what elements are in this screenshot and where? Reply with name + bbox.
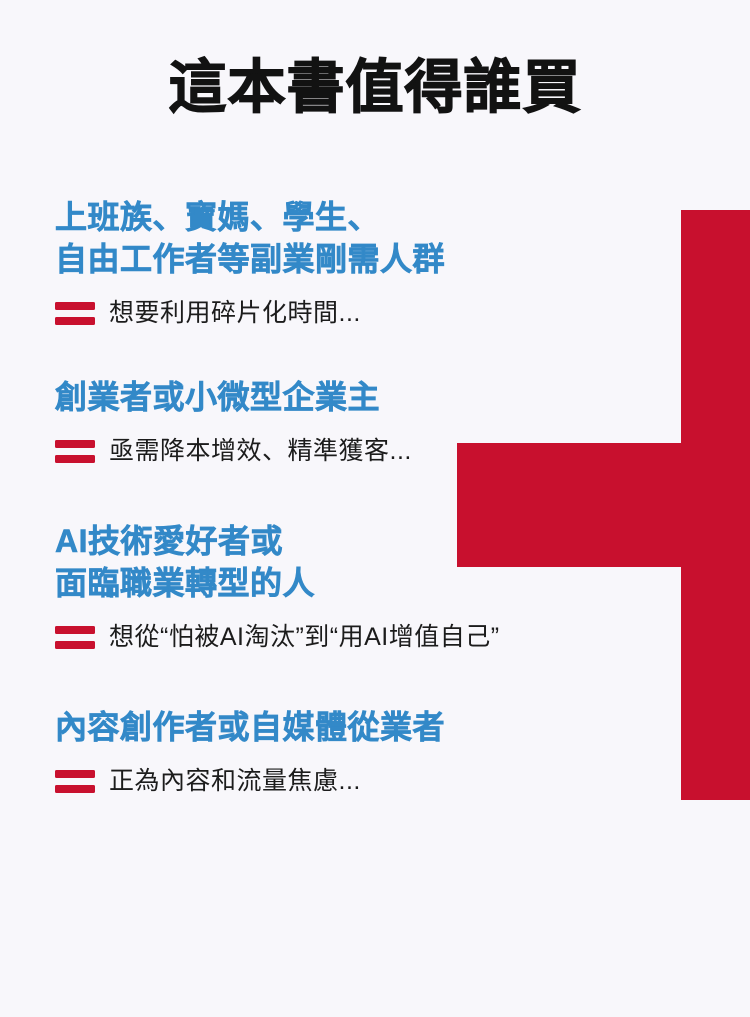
poster-canvas: 這本書值得誰買 上班族、寶媽、學生、 自由工作者等副業剛需人群 想要利用碎片化時… bbox=[0, 0, 750, 1017]
audience-section-1: 上班族、寶媽、學生、 自由工作者等副業剛需人群 想要利用碎片化時間... bbox=[0, 196, 750, 330]
bullet-text-4: 正為內容和流量焦慮... bbox=[109, 764, 361, 798]
bullet-row-1: 想要利用碎片化時間... bbox=[55, 296, 750, 330]
double-bar-icon bbox=[55, 768, 95, 794]
section-heading-2: 創業者或小微型企業主 bbox=[55, 376, 750, 418]
bullet-row-2: 亟需降本增效、精準獲客... bbox=[55, 434, 750, 468]
page-title: 這本書值得誰買 bbox=[0, 52, 750, 124]
bullet-row-4: 正為內容和流量焦慮... bbox=[55, 764, 750, 798]
section-heading-1: 上班族、寶媽、學生、 自由工作者等副業剛需人群 bbox=[55, 196, 750, 280]
bullet-text-1: 想要利用碎片化時間... bbox=[109, 296, 361, 330]
double-bar-icon bbox=[55, 624, 95, 650]
audience-section-3: AI技術愛好者或 面臨職業轉型的人 想從“怕被AI淘汰”到“用AI增值自己” bbox=[0, 520, 750, 654]
double-bar-icon bbox=[55, 300, 95, 326]
bullet-row-3: 想從“怕被AI淘汰”到“用AI增值自己” bbox=[55, 620, 750, 654]
bullet-text-2: 亟需降本增效、精準獲客... bbox=[109, 434, 412, 468]
bullet-text-3: 想從“怕被AI淘汰”到“用AI增值自己” bbox=[109, 620, 500, 654]
audience-section-4: 內容創作者或自媒體從業者 正為內容和流量焦慮... bbox=[0, 706, 750, 798]
double-bar-icon bbox=[55, 438, 95, 464]
audience-section-2: 創業者或小微型企業主 亟需降本增效、精準獲客... bbox=[0, 376, 750, 468]
section-heading-4: 內容創作者或自媒體從業者 bbox=[55, 706, 750, 748]
section-heading-3: AI技術愛好者或 面臨職業轉型的人 bbox=[55, 520, 750, 604]
audience-sections: 上班族、寶媽、學生、 自由工作者等副業剛需人群 想要利用碎片化時間... 創業者… bbox=[0, 196, 750, 798]
